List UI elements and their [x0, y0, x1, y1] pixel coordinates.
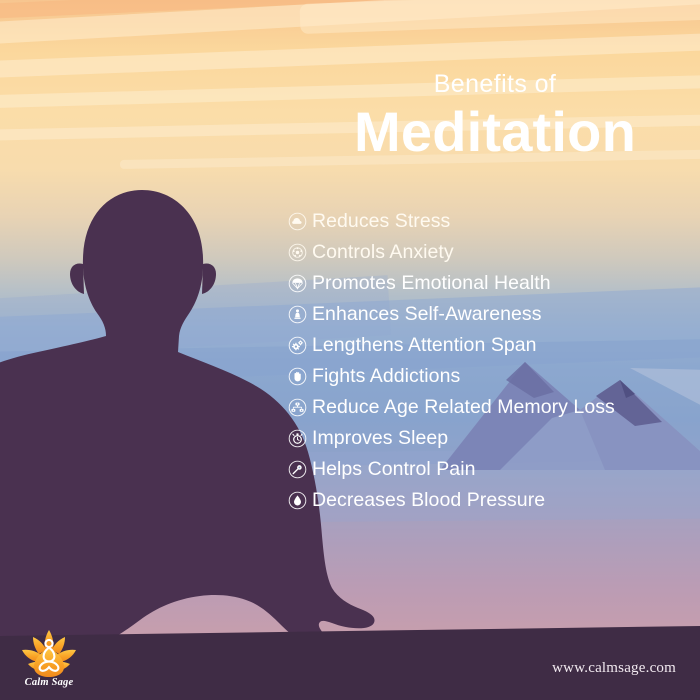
list-item: Reduces Stress — [288, 206, 692, 237]
raised-hand-icon — [288, 367, 307, 386]
list-item: Lengthens Attention Span — [288, 330, 692, 361]
list-item: Helps Control Pain — [288, 454, 692, 485]
brand-logo[interactable]: Calm Sage — [12, 628, 86, 698]
benefits-list: Reduces Stress Controls Anxiety — [288, 206, 692, 516]
list-item-label: Controls Anxiety — [312, 243, 454, 262]
pin-icon — [288, 460, 307, 479]
cloud-icon — [288, 212, 307, 231]
list-item-label: Reduce Age Related Memory Loss — [312, 398, 615, 417]
list-item: Reduce Age Related Memory Loss — [288, 392, 692, 423]
list-item-label: Fights Addictions — [312, 367, 460, 386]
parachute-icon — [288, 274, 307, 293]
list-item-label: Helps Control Pain — [312, 460, 475, 479]
list-item-label: Improves Sleep — [312, 429, 448, 448]
poster-title-block: Benefits of Meditation — [300, 72, 690, 164]
footer-bar: Calm Sage www.calmsage.com — [0, 626, 700, 700]
list-item: Enhances Self-Awareness — [288, 299, 692, 330]
list-item: Controls Anxiety — [288, 237, 692, 268]
list-item-label: Enhances Self-Awareness — [312, 305, 542, 324]
list-item: Fights Addictions — [288, 361, 692, 392]
gears-icon — [288, 336, 307, 355]
droplet-icon — [288, 491, 307, 510]
list-item: Improves Sleep — [288, 423, 692, 454]
network-icon — [288, 398, 307, 417]
list-item-label: Lengthens Attention Span — [312, 336, 537, 355]
alarm-clock-icon — [288, 429, 307, 448]
lotus-logo-icon — [20, 628, 78, 680]
person-icon — [288, 305, 307, 324]
list-item-label: Promotes Emotional Health — [312, 274, 551, 293]
brand-name: Calm Sage — [12, 677, 86, 688]
atom-icon — [288, 243, 307, 262]
list-item: Decreases Blood Pressure — [288, 485, 692, 516]
list-item-label: Decreases Blood Pressure — [312, 491, 545, 510]
title-eyebrow: Benefits of — [300, 72, 690, 97]
website-url[interactable]: www.calmsage.com — [552, 660, 676, 677]
meditation-benefits-poster: Benefits of Meditation Reduces Stress C — [0, 0, 700, 700]
list-item-label: Reduces Stress — [312, 212, 450, 231]
page-title: Meditation — [300, 101, 690, 164]
list-item: Promotes Emotional Health — [288, 268, 692, 299]
